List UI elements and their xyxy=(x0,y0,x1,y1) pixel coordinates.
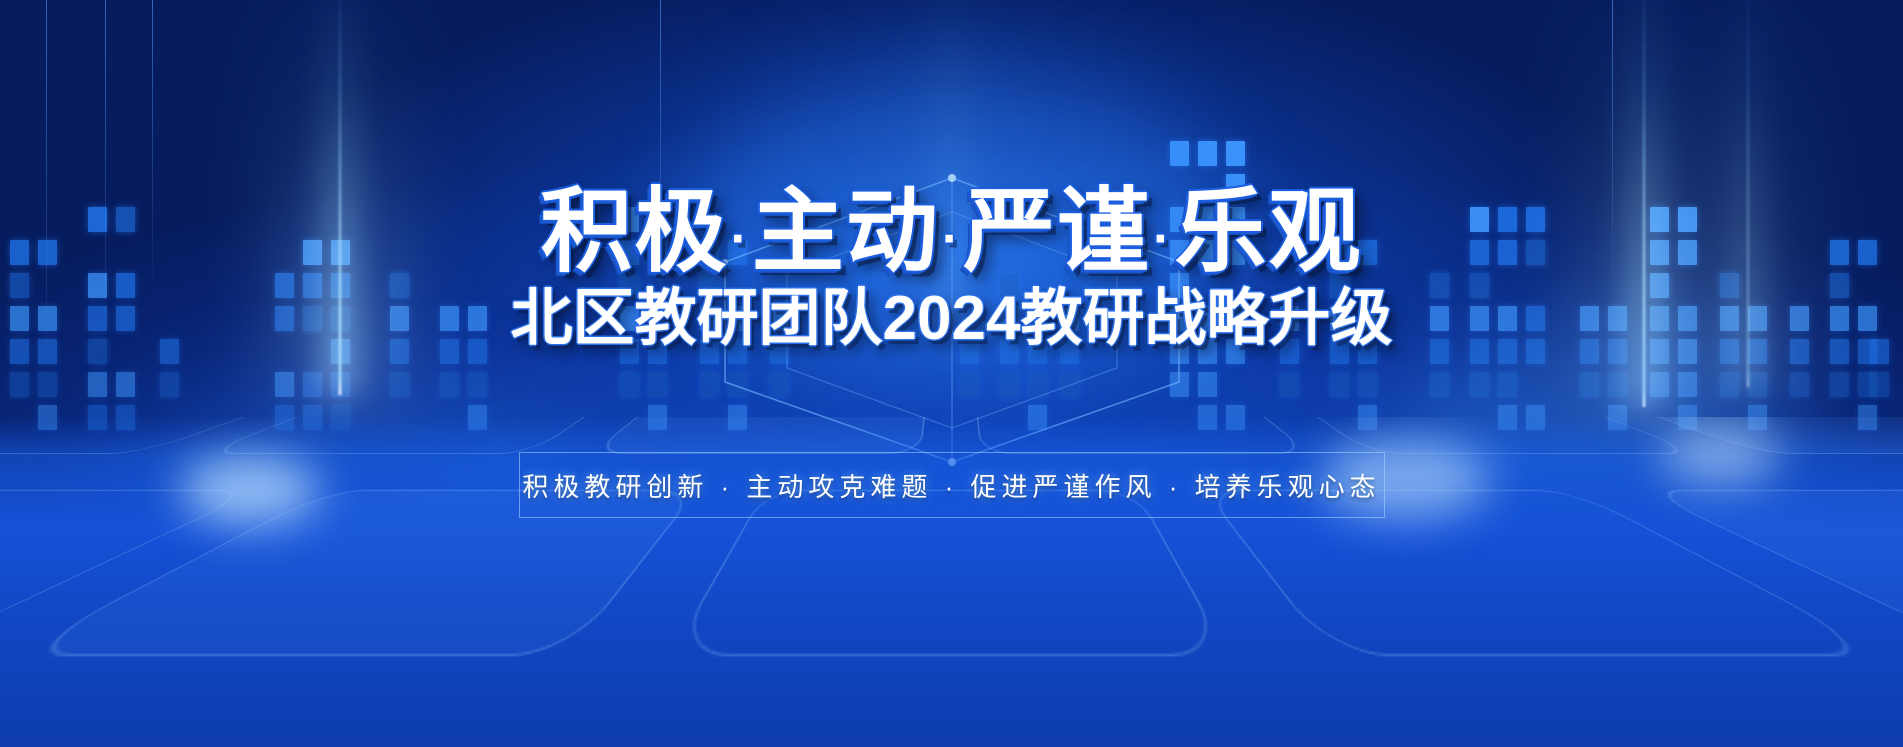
title-separator: · xyxy=(730,210,749,268)
floor-tile xyxy=(974,417,1311,454)
skyline-window xyxy=(1198,372,1217,397)
skyline-window xyxy=(1830,372,1849,397)
skyline-window xyxy=(331,372,350,397)
skyline-window xyxy=(1720,372,1739,397)
floor-tile xyxy=(590,417,928,454)
skyline-window xyxy=(275,372,294,397)
skyline-window xyxy=(1498,372,1517,397)
skyline-window xyxy=(1470,372,1489,397)
skyline-window xyxy=(1678,372,1697,397)
skyline-window xyxy=(1748,372,1767,397)
banner-content: 积极·主动·严谨·乐观 北区教研团队2024教研战略升级 xyxy=(0,0,1903,351)
skyline-window xyxy=(1790,372,1809,397)
skyline-window xyxy=(1580,372,1599,397)
skyline-window xyxy=(1608,372,1627,397)
floor-glow xyxy=(1660,425,1780,485)
skyline-window xyxy=(160,372,179,397)
floor-tile xyxy=(200,417,628,454)
skyline-window xyxy=(1226,372,1245,397)
skyline-window xyxy=(468,372,487,397)
skyline-window xyxy=(88,372,107,397)
skyline-window xyxy=(1358,372,1377,397)
skyline-window xyxy=(620,372,639,397)
skyline-window xyxy=(648,372,667,397)
skyline-window xyxy=(440,372,459,397)
skyline-window xyxy=(38,372,57,397)
skyline-window xyxy=(10,372,29,397)
tagline-text: 积极教研创新 · 主动攻克难题 · 促进严谨作风 · 培养乐观心态 xyxy=(522,467,1380,504)
skyline-window xyxy=(1526,372,1545,397)
skyline-window xyxy=(1650,372,1669,397)
skyline-window xyxy=(303,372,322,397)
title-separator: · xyxy=(1153,210,1172,268)
skyline-window xyxy=(1330,372,1349,397)
title-word: 严谨 xyxy=(963,181,1151,283)
promo-banner: 积极·主动·严谨·乐观 北区教研团队2024教研战略升级 积极教研创新 · 主动… xyxy=(0,0,1903,747)
title-word: 乐观 xyxy=(1175,181,1363,283)
skyline-window xyxy=(390,372,409,397)
skyline-window xyxy=(1870,372,1889,397)
title-word: 积极 xyxy=(540,181,728,283)
title-word: 主动 xyxy=(752,181,940,283)
skyline-window xyxy=(1430,372,1449,397)
skyline-window xyxy=(116,372,135,397)
banner-subtitle: 北区教研团队2024教研战略升级 xyxy=(511,286,1393,351)
floor-tile xyxy=(1274,417,1701,454)
skyline-window xyxy=(1280,372,1299,397)
tagline-bar: 积极教研创新 · 主动攻克难题 · 促进严谨作风 · 培养乐观心态 xyxy=(519,452,1385,518)
title-separator: · xyxy=(942,210,961,268)
banner-title: 积极·主动·严谨·乐观 xyxy=(540,186,1362,278)
floor-glow xyxy=(180,455,320,525)
